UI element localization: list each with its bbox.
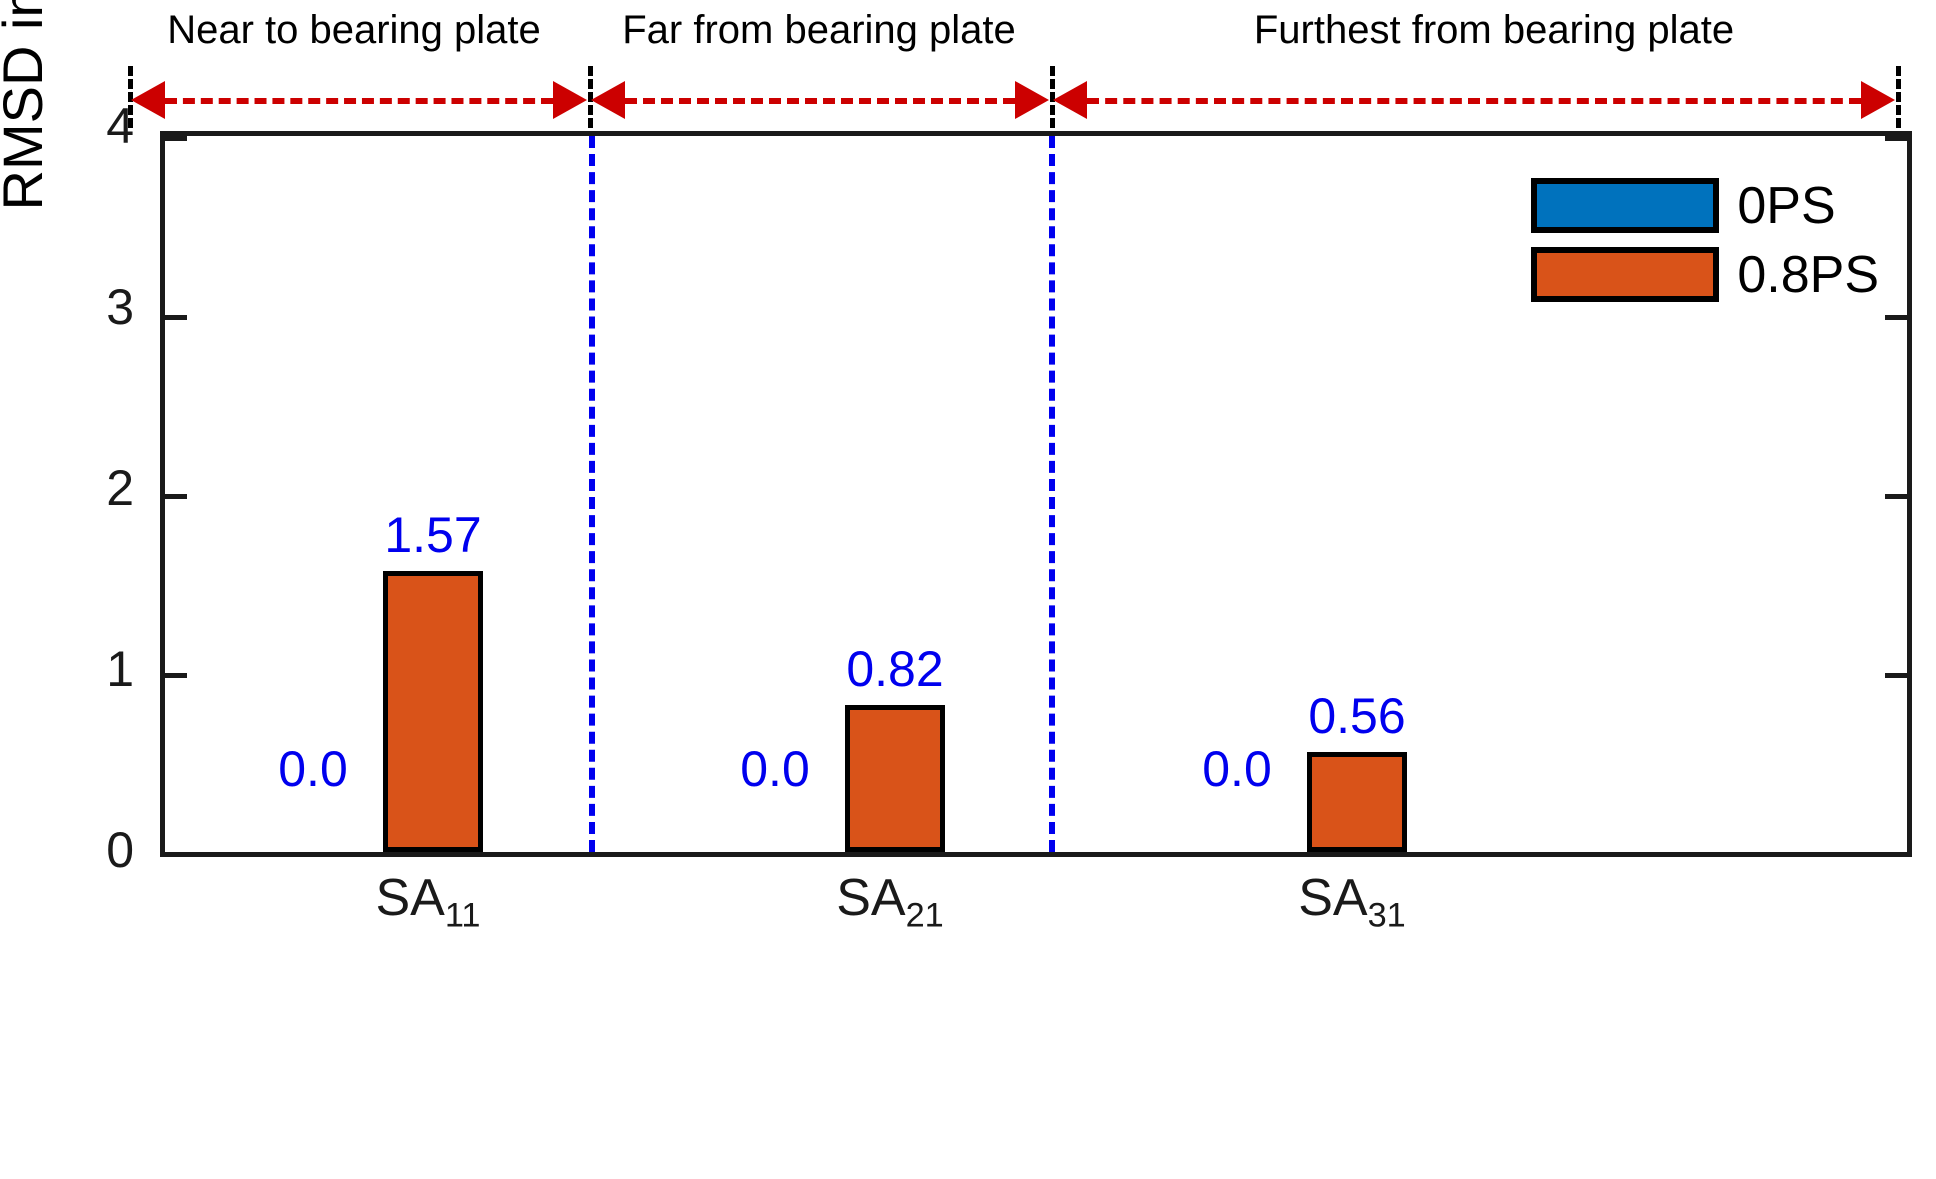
x-tick-sa11-base: SA (376, 869, 445, 927)
region-label-furthest: Furthest from bearing plate (1054, 10, 1934, 50)
bar-label-g1-0ps: 0.0 (278, 740, 348, 798)
x-tick-sa21-base: SA (836, 869, 905, 927)
x-tick-sa31-sub: 31 (1368, 897, 1406, 935)
region-arrows (0, 98, 1936, 102)
legend-item-08ps[interactable]: 0.8PS (1531, 247, 1879, 302)
bar-g2-08ps (845, 705, 945, 852)
chart-root: Near to bearing plate Far from bearing p… (0, 0, 1936, 1179)
arrowhead-icon (553, 81, 587, 119)
y-tick-mark-4 (165, 136, 187, 141)
arrowhead-icon (131, 81, 165, 119)
plot-inner: 0.0 1.57 0.0 0.82 0.0 0.56 0PS (165, 136, 1907, 852)
legend: 0PS 0.8PS (1531, 178, 1879, 302)
x-axis-tick-labels: SA11 SA21 SA31 (160, 868, 1912, 978)
legend-label-0ps: 0PS (1737, 180, 1835, 232)
y-tick-3: 3 (106, 278, 134, 336)
y-tick-mark-3 (165, 315, 187, 320)
arrowhead-icon (591, 81, 625, 119)
plot-area: 0.0 1.57 0.0 0.82 0.0 0.56 0PS (160, 131, 1912, 857)
y-tick-mark-1-right (1885, 673, 1907, 678)
region-boundary-right (1896, 66, 1901, 128)
x-tick-sa31-base: SA (1298, 869, 1367, 927)
y-tick-mark-2 (165, 494, 187, 499)
bar-label-g2-0ps: 0.0 (740, 740, 810, 798)
arrow-line-far (625, 98, 1015, 104)
y-tick-mark-2-right (1885, 494, 1907, 499)
bar-g3-08ps (1307, 752, 1407, 852)
y-tick-mark-3-right (1885, 315, 1907, 320)
y-tick-1: 1 (106, 640, 134, 698)
x-tick-sa31: SA31 (1298, 868, 1406, 936)
bar-label-g3-08ps: 0.56 (1308, 687, 1405, 745)
legend-swatch-08ps (1531, 247, 1719, 302)
y-tick-mark-4-right (1885, 136, 1907, 141)
bar-label-g2-08ps: 0.82 (846, 640, 943, 698)
arrow-line-furthest (1087, 98, 1861, 104)
x-tick-sa21: SA21 (836, 868, 944, 936)
bar-label-g1-08ps: 1.57 (384, 506, 481, 564)
y-tick-mark-1 (165, 673, 187, 678)
x-tick-sa11-sub: 11 (445, 897, 481, 935)
y-axis-tick-labels: 4 3 2 1 0 (0, 131, 152, 857)
bar-g1-08ps (383, 571, 483, 852)
arrow-line-near (165, 98, 553, 104)
arrowhead-icon (1015, 81, 1049, 119)
group-divider-2 (1049, 136, 1055, 852)
arrowhead-icon (1053, 81, 1087, 119)
arrowhead-icon (1861, 81, 1895, 119)
legend-item-0ps[interactable]: 0PS (1531, 178, 1879, 233)
region-annotation-band: Near to bearing plate Far from bearing p… (0, 0, 1936, 122)
x-tick-sa21-sub: 21 (906, 897, 944, 935)
y-tick-4: 4 (106, 97, 134, 155)
bar-label-g3-0ps: 0.0 (1202, 740, 1272, 798)
region-label-near: Near to bearing plate (124, 10, 584, 50)
group-divider-1 (589, 136, 595, 852)
legend-label-08ps: 0.8PS (1737, 249, 1879, 301)
legend-swatch-0ps (1531, 178, 1719, 233)
region-label-far: Far from bearing plate (590, 10, 1048, 50)
y-tick-2: 2 (106, 459, 134, 517)
y-tick-0: 0 (106, 821, 134, 879)
x-tick-sa11: SA11 (376, 868, 481, 936)
